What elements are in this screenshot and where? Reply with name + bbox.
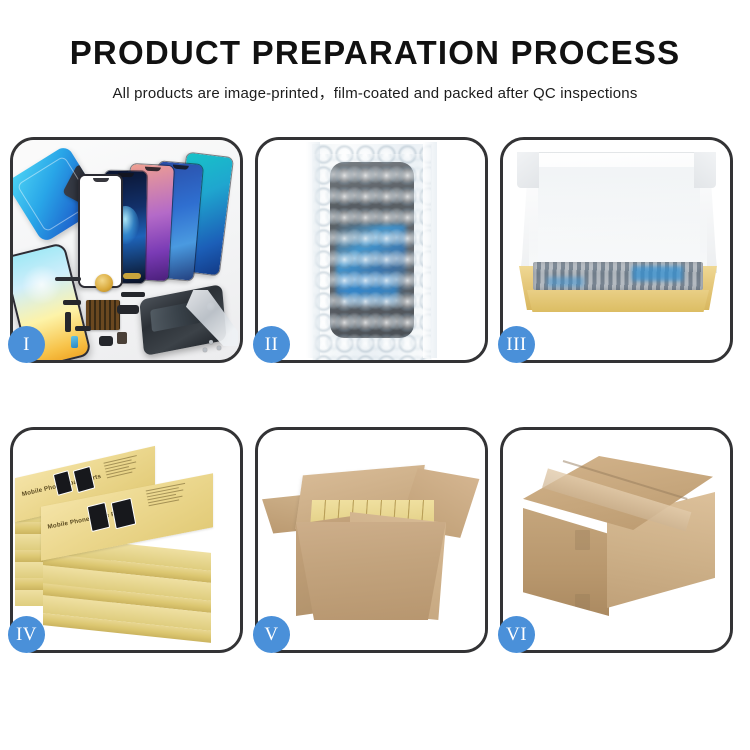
step-badge-2: II — [253, 326, 290, 363]
wrap-edge-right — [423, 142, 437, 358]
flex-cable-3 — [63, 300, 81, 305]
lid-tab-right — [694, 152, 716, 188]
phone-screen-1 — [78, 174, 123, 288]
carton-body — [296, 522, 446, 620]
flex-cable-4 — [65, 312, 71, 332]
bubble-wrap-texture-overlay — [313, 154, 431, 360]
foam-liner — [529, 210, 707, 268]
step-3-image — [503, 140, 730, 360]
process-step-panel-4[interactable]: Mobile Phone Spare Parts Mobile Phone Sp… — [10, 427, 243, 653]
step-badge-6: VI — [498, 616, 535, 653]
speaker-module-icon — [99, 336, 113, 346]
step-5-image — [258, 430, 485, 650]
flex-cable-5 — [75, 326, 91, 331]
process-step-grid: I II — [10, 137, 740, 653]
vibration-motor-icon — [95, 274, 113, 292]
wrap-edge-left — [306, 142, 320, 358]
flex-cable-2 — [117, 305, 139, 314]
process-step-panel-1[interactable]: I — [10, 137, 243, 363]
step-badge-3: III — [498, 326, 535, 363]
lid-tab-left — [517, 152, 539, 188]
sim-tray-icon — [71, 336, 78, 348]
antenna-strip-icon — [55, 277, 81, 281]
step-4-image: Mobile Phone Spare Parts Mobile Phone Sp… — [13, 430, 240, 650]
wrapped-screens-in-box — [533, 262, 703, 290]
process-step-panel-6[interactable]: VI — [500, 427, 733, 653]
step-6-image — [503, 430, 730, 650]
step-1-image — [13, 140, 240, 360]
page-subtitle: All products are image-printed，film-coat… — [0, 71, 750, 103]
product-preparation-infographic: PRODUCT PREPARATION PROCESS All products… — [0, 0, 750, 750]
camera-module-icon — [117, 332, 127, 344]
step-badge-1: I — [8, 326, 45, 363]
page-title: PRODUCT PREPARATION PROCESS — [0, 0, 750, 71]
process-step-panel-3[interactable]: III — [500, 137, 733, 363]
step-badge-4: IV — [8, 616, 45, 653]
process-step-panel-5[interactable]: V — [255, 427, 488, 653]
step-2-image — [258, 140, 485, 360]
chip-array-icon — [86, 300, 120, 330]
phone-screen-fan — [75, 154, 240, 279]
process-step-panel-2[interactable]: II — [255, 137, 488, 363]
gold-flex-icon — [123, 273, 141, 279]
sealed-carton-left-face — [523, 508, 609, 616]
yellow-box-stack: Mobile Phone Spare Parts Mobile Phone Sp… — [13, 430, 240, 650]
flex-cable-1 — [121, 292, 145, 297]
mailer-box-front — [527, 290, 709, 312]
header: PRODUCT PREPARATION PROCESS All products… — [0, 0, 750, 103]
step-badge-5: V — [253, 616, 290, 653]
